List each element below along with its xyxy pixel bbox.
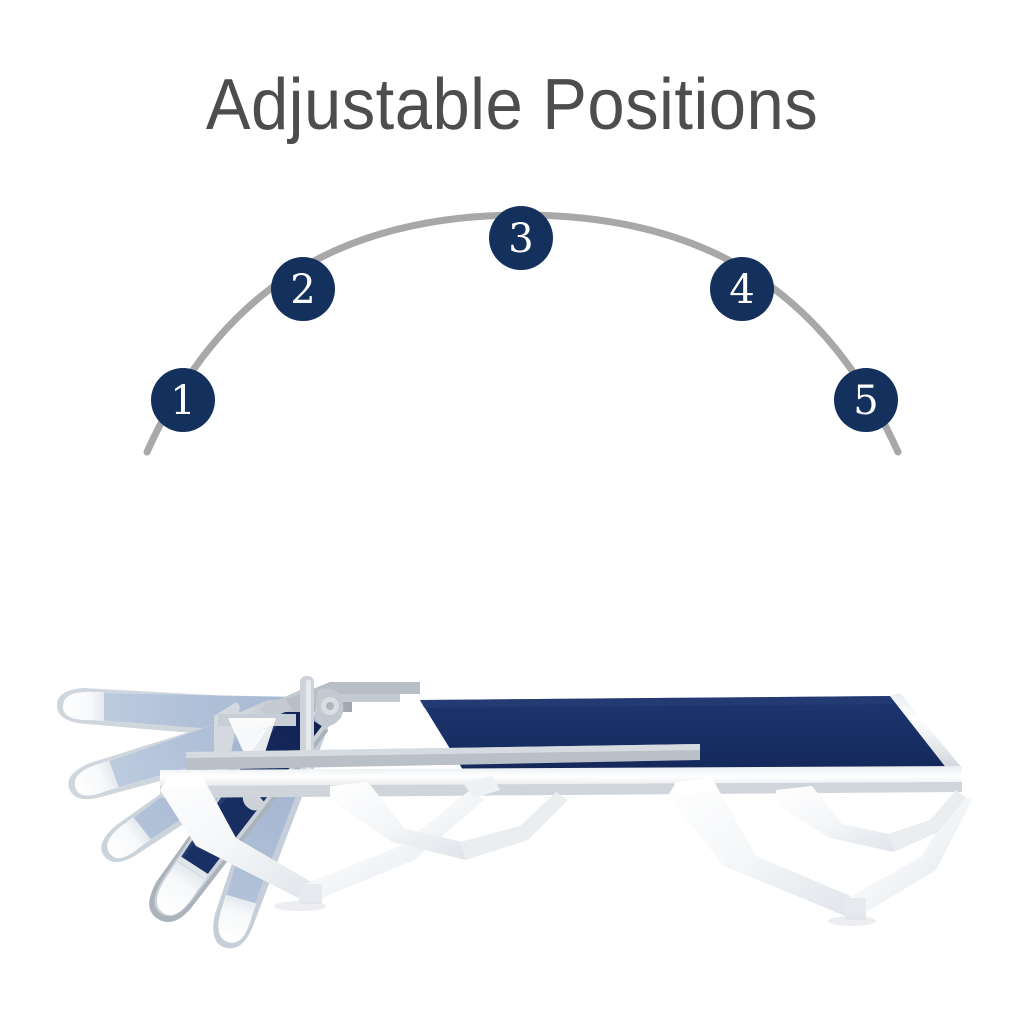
step-badge-5-label: 5 (853, 378, 878, 424)
step-badge-4[interactable]: 4 (710, 257, 774, 321)
infographic-canvas: Adjustable Positions (0, 0, 1024, 1024)
step-badge-2-label: 2 (290, 267, 315, 313)
step-badge-2[interactable]: 2 (271, 257, 335, 321)
step-badge-1-label: 1 (170, 378, 195, 424)
step-badge-3[interactable]: 3 (489, 206, 553, 270)
product-illustration: 1 2 3 4 5 (0, 0, 1024, 1024)
step-badge-1[interactable]: 1 (151, 368, 215, 432)
chaise-lounge-chair (57, 676, 972, 958)
step-badge-3-label: 3 (508, 216, 533, 262)
step-badge-5[interactable]: 5 (834, 368, 898, 432)
step-badge-4-label: 4 (729, 267, 754, 313)
